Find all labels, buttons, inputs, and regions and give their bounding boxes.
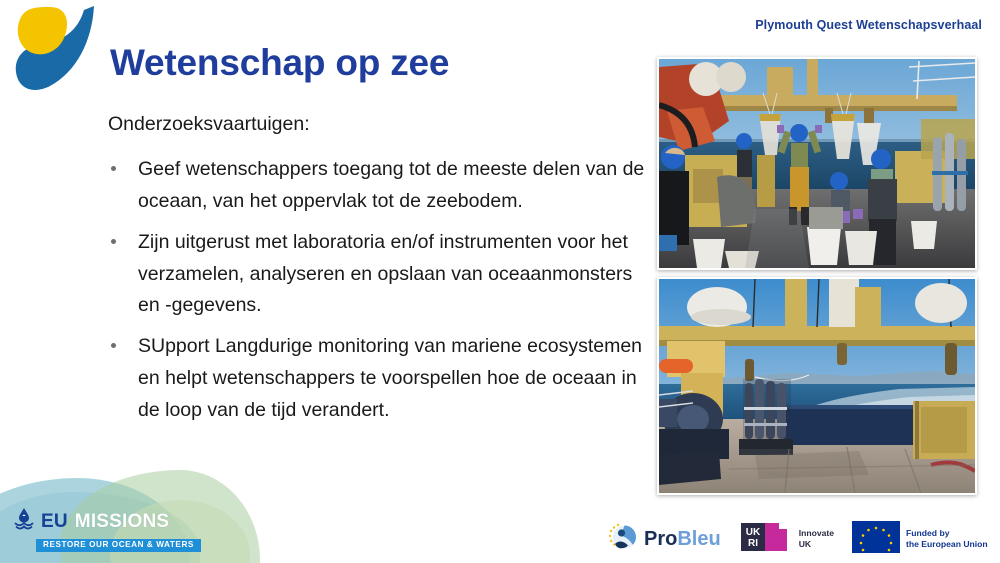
bullet-list: Geef wetenschappers toegang tot de meest… [108, 154, 656, 426]
slide: Plymouth Quest Wetenschapsverhaal Wetens… [0, 0, 1000, 563]
eu-missions-wordmark: EU MISSIONS [14, 508, 204, 534]
list-item: Zijn uitgerust met laboratoria en/of ins… [108, 227, 656, 322]
list-item-label: Zijn uitgerust met laboratoria en/of ins… [138, 231, 632, 317]
innovate-uk-line1: Innovate [799, 528, 834, 538]
funded-by-eu-logo: Funded by the European Union [852, 521, 988, 558]
research-vessel-deck-plankton-nets-photo [657, 57, 977, 270]
eu-missions-logo: EU MISSIONS RESTORE OUR OCEAN & WATERS [14, 508, 204, 554]
footer-logo-strip: ProBleu UK RI Innovate UK [608, 518, 990, 560]
probleu-bleu-label: Bleu [677, 528, 720, 550]
bullet-dot-icon [111, 343, 116, 348]
probleu-globe-icon [608, 522, 638, 557]
list-item: SUpport Langdurige monitoring van marien… [108, 331, 656, 426]
bullet-dot-icon [111, 239, 116, 244]
svg-text:RI: RI [748, 538, 758, 549]
list-item-label: SUpport Langdurige monitoring van marien… [138, 335, 642, 421]
page-title: Wetenschap op zee [110, 42, 449, 84]
research-vessel-aft-deck-ctd-rosette-photo [657, 277, 977, 495]
funded-by-eu-line1: Funded by [906, 528, 949, 538]
ukri-innovate-uk-logo: UK RI Innovate UK [739, 521, 834, 558]
bullet-dot-icon [111, 166, 116, 171]
list-item-label: Geef wetenschappers toegang tot de meest… [138, 158, 644, 212]
probleu-pro-label: Pro [644, 528, 677, 550]
funded-by-eu-line2: the European Union [906, 539, 988, 549]
brand-leaf-logo [6, 2, 106, 102]
svg-text:UK: UK [745, 527, 760, 538]
innovate-uk-label: Innovate UK [799, 528, 834, 549]
probleu-logo: ProBleu [608, 522, 721, 557]
funded-by-eu-label: Funded by the European Union [906, 528, 988, 549]
eu-missions-eu-label: EU [41, 512, 68, 531]
eu-missions-missions-label: MISSIONS [75, 512, 170, 531]
list-item: Geef wetenschappers toegang tot de meest… [108, 154, 656, 218]
ukri-mark-icon: UK RI [739, 521, 793, 558]
water-drop-wave-icon [14, 507, 34, 536]
innovate-uk-line2: UK [799, 539, 811, 549]
eu-flag-icon [852, 521, 900, 558]
body-content: Onderzoeksvaartuigen: Geef wetenschapper… [108, 110, 656, 436]
probleu-wordmark: ProBleu [644, 529, 721, 549]
eu-missions-subtitle: RESTORE OUR OCEAN & WATERS [36, 539, 201, 552]
lead-text: Onderzoeksvaartuigen: [108, 110, 656, 138]
slide-kicker: Plymouth Quest Wetenschapsverhaal [755, 18, 982, 32]
